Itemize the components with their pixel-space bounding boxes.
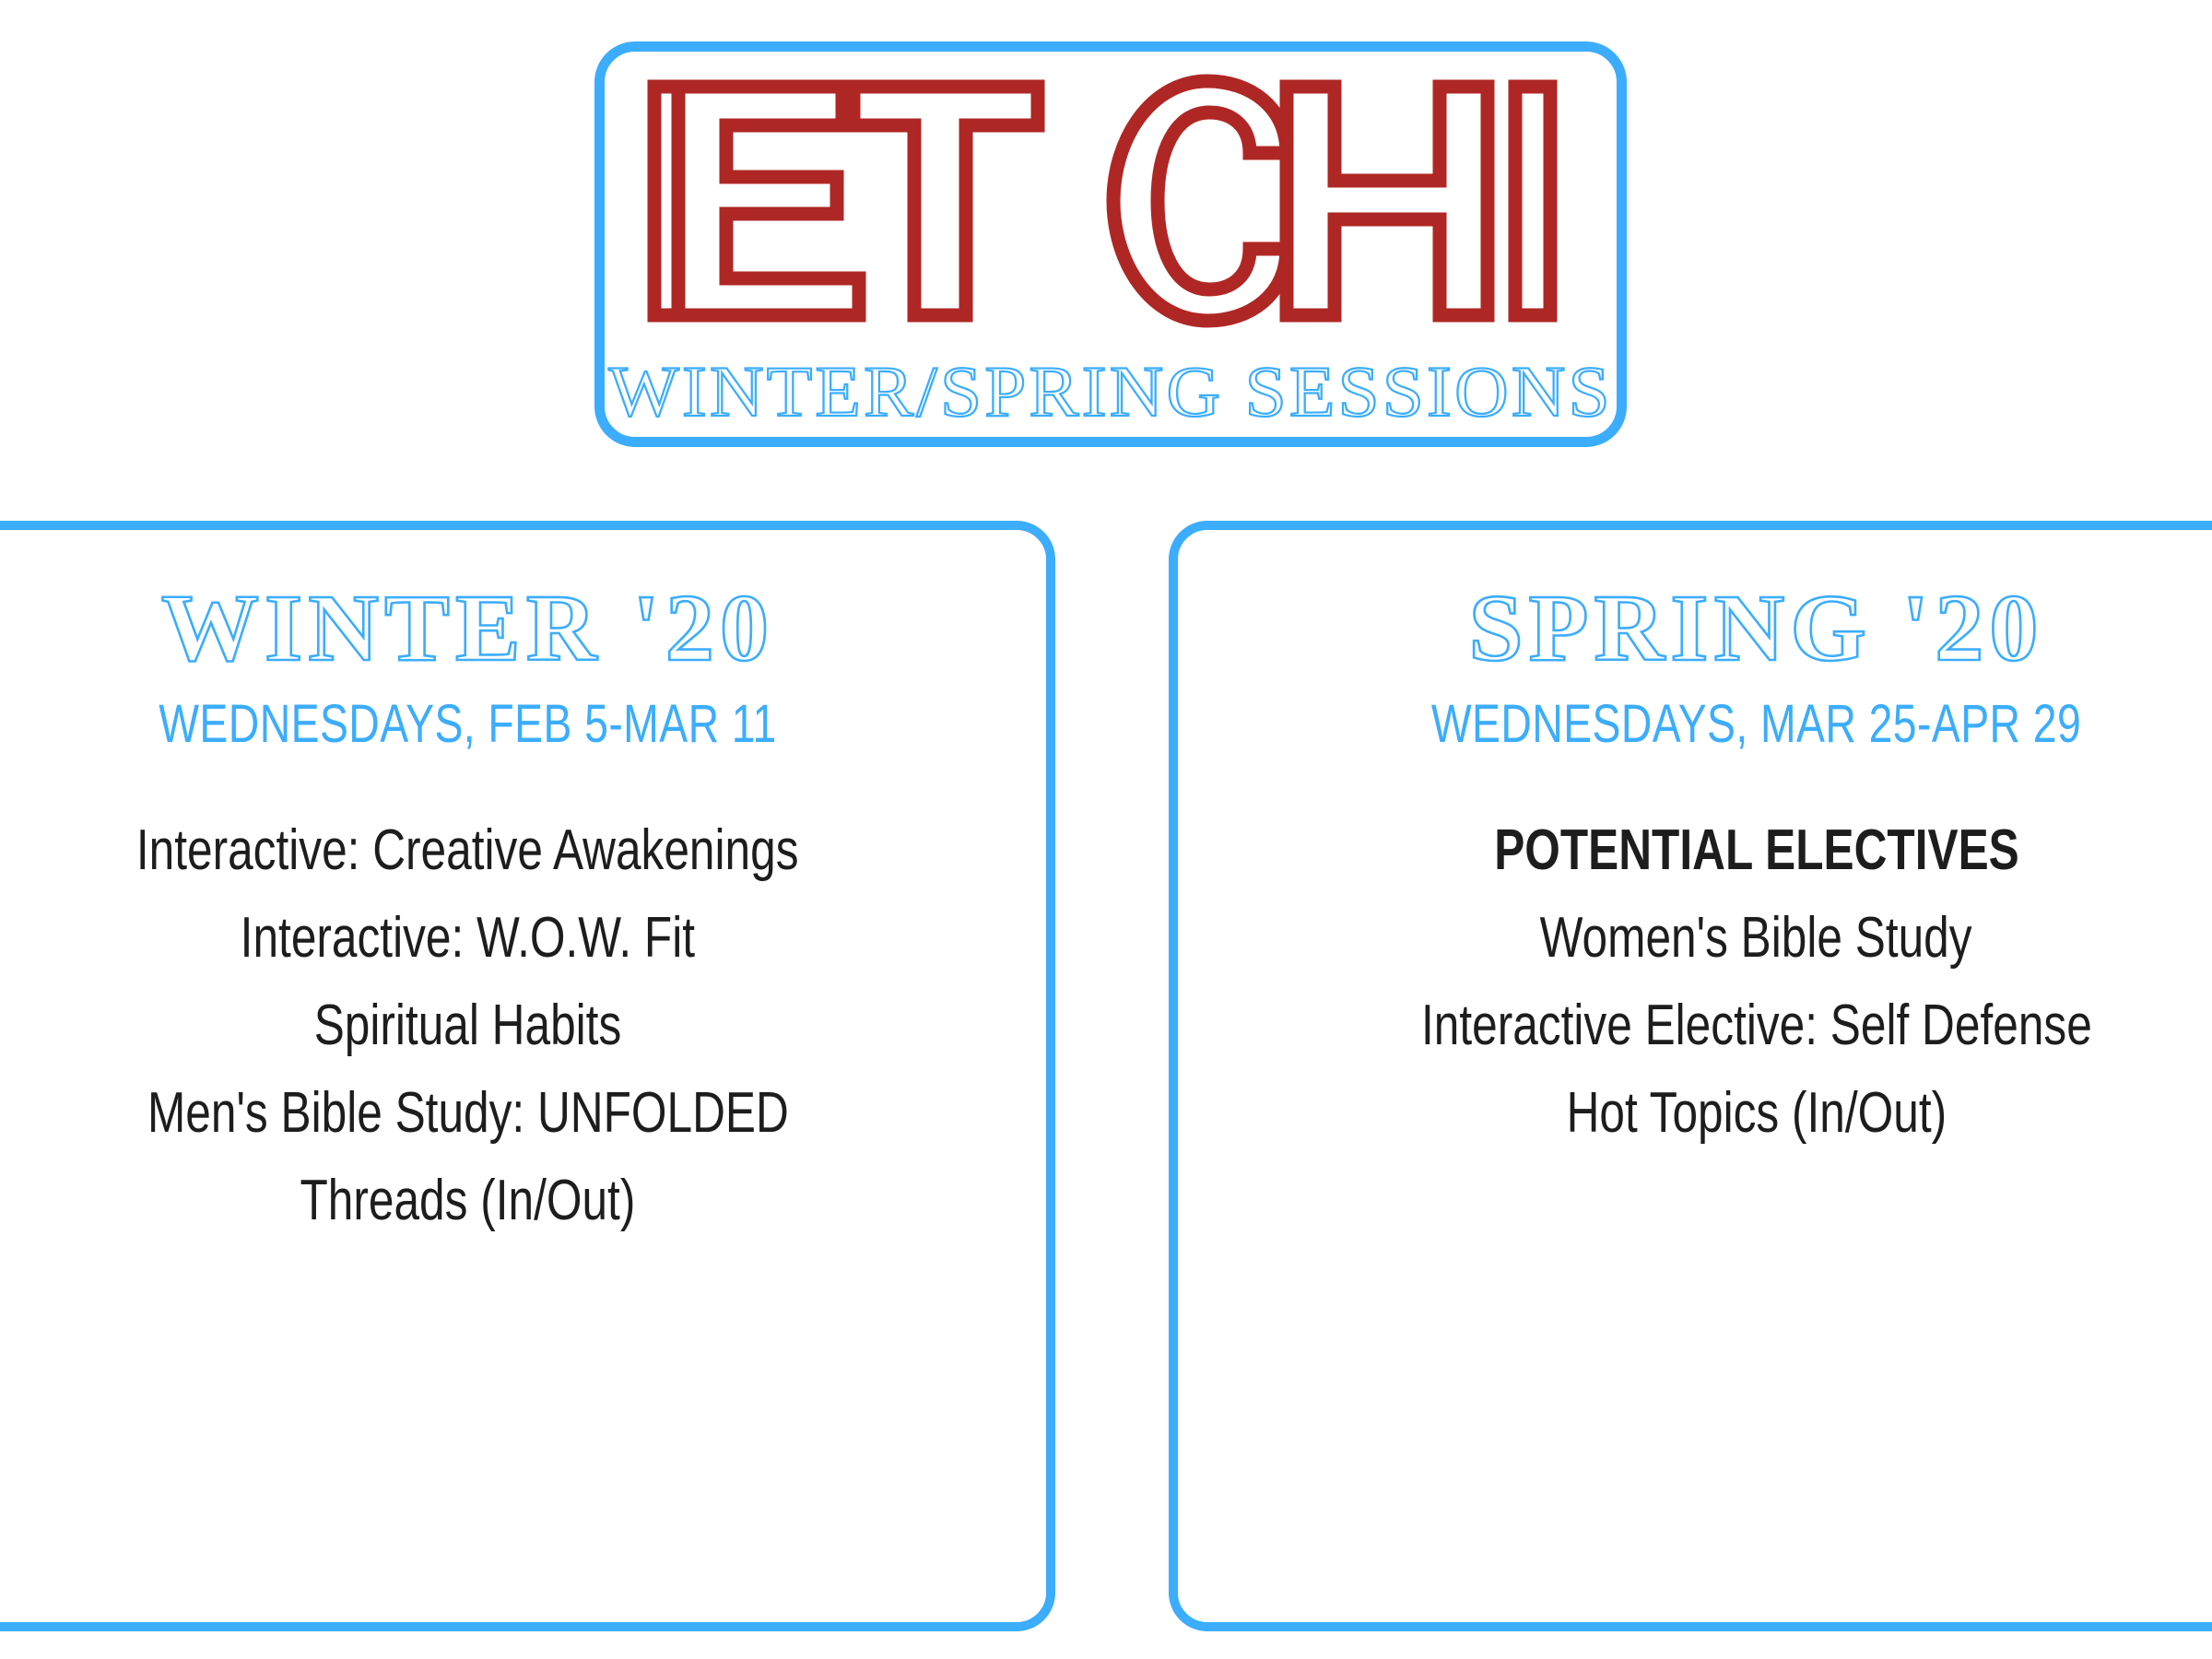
list-item: Women's Bible Study <box>1178 894 2212 982</box>
list-item: Interactive: W.O.W. Fit <box>0 894 1046 982</box>
spring-course-list: POTENTIAL ELECTIVES Women's Bible Study … <box>1178 806 2212 1157</box>
winter-item-3: Men's Bible Study: UNFOLDED <box>147 1085 789 1142</box>
spring-session-card: SPRING '20 WEDNESDAYS, MAR 25-APR 29 POT… <box>1169 521 2212 1631</box>
winter-title: WINTER '20 <box>0 581 1055 677</box>
spring-title: SPRING '20 <box>1169 581 2212 677</box>
list-item: Interactive Elective: Self Defense <box>1178 982 2212 1069</box>
logo-subtitle: WINTER/SPRING SESSIONS <box>584 356 1637 428</box>
list-item: Threads (In/Out) <box>0 1157 1046 1244</box>
winter-item-1: Interactive: W.O.W. Fit <box>241 910 695 967</box>
winter-item-2: Spiritual Habits <box>314 997 622 1054</box>
winter-course-list: Interactive: Creative Awakenings Interac… <box>0 806 1046 1244</box>
winter-session-card: WINTER '20 WEDNESDAYS, FEB 5-MAR 11 Inte… <box>0 521 1055 1631</box>
list-item: Interactive: Creative Awakenings <box>0 806 1046 894</box>
list-item: Spiritual Habits <box>0 982 1046 1069</box>
list-item: POTENTIAL ELECTIVES <box>1178 806 2212 894</box>
spring-dates: WEDNESDAYS, MAR 25-APR 29 <box>1294 698 2212 751</box>
winter-dates: WEDNESDAYS, FEB 5-MAR 11 <box>6 698 931 751</box>
winter-item-4: Threads (In/Out) <box>300 1172 636 1230</box>
etch-wordmark-logo <box>641 68 1600 335</box>
logo-badge: WINTER/SPRING SESSIONS <box>594 41 1627 447</box>
list-item: Hot Topics (In/Out) <box>1178 1069 2212 1157</box>
spring-item-2: Interactive Elective: Self Defense <box>1421 997 2092 1054</box>
spring-item-1: Women's Bible Study <box>1540 910 1972 967</box>
spring-item-3: Hot Topics (In/Out) <box>1566 1085 1947 1142</box>
spring-item-0: POTENTIAL ELECTIVES <box>1494 822 2019 879</box>
winter-item-0: Interactive: Creative Awakenings <box>136 822 799 879</box>
list-item: Men's Bible Study: UNFOLDED <box>0 1069 1046 1157</box>
